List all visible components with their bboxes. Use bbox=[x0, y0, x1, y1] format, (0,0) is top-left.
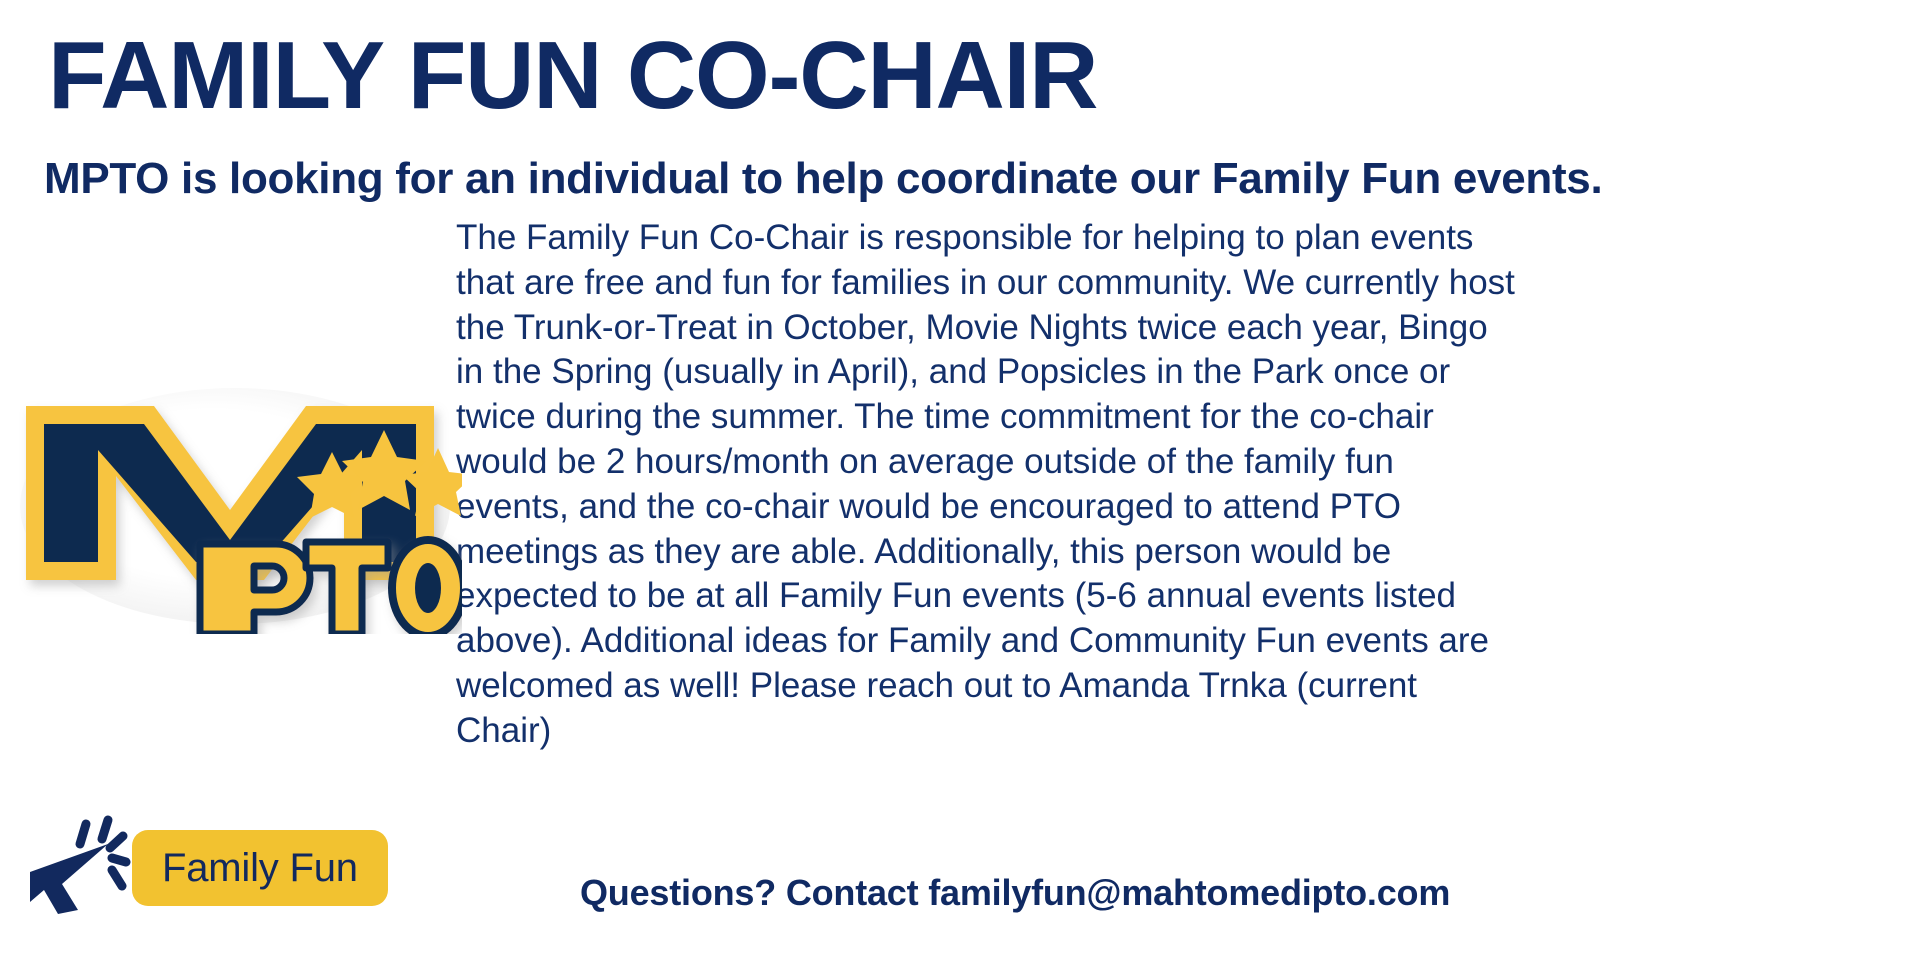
contact-line: Questions? Contact familyfun@mahtomedipt… bbox=[580, 872, 1880, 914]
mpto-logo-graphic bbox=[14, 384, 462, 634]
logo-letters-pto bbox=[200, 540, 462, 634]
poster-canvas: FAMILY FUN CO-CHAIR MPTO is looking for … bbox=[0, 0, 1920, 960]
page-subtitle: MPTO is looking for an individual to hel… bbox=[44, 148, 1904, 210]
mpto-logo bbox=[14, 384, 462, 634]
role-description-paragraph: The Family Fun Co-Chair is responsible f… bbox=[456, 216, 1516, 754]
click-cursor-icon bbox=[22, 806, 132, 919]
family-fun-tag-row: Family Fun bbox=[22, 800, 442, 920]
family-fun-tag-button[interactable]: Family Fun bbox=[132, 830, 388, 906]
page-title: FAMILY FUN CO-CHAIR bbox=[48, 26, 1748, 126]
